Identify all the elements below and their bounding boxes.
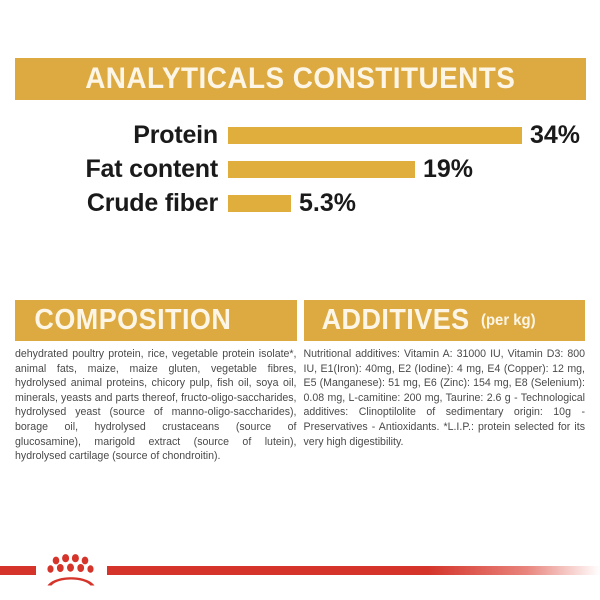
bar-value-fat-content: 19% [423, 157, 473, 182]
bar-row-fat-content: Fat content 19% [0, 152, 600, 186]
bar-label-crude-fiber: Crude fiber [0, 191, 218, 216]
bar-fill-protein [228, 127, 522, 144]
additives-body-text: Nutritional additives: Vitamin A: 31000 … [304, 341, 586, 449]
bar-row-crude-fiber: Crude fiber 5.3% [0, 186, 600, 220]
bar-row-protein: Protein 34% [0, 118, 600, 152]
bar-track-fat-content: 19% [228, 157, 473, 182]
additives-header-subtitle: (per kg) [481, 312, 536, 330]
analyticals-header-title: ANALYTICALS CONSTITUENTS [85, 64, 515, 94]
bar-fill-crude-fiber [228, 195, 291, 212]
additives-header-band: ADDITIVES (per kg) [304, 300, 586, 341]
footer-brand-rule [0, 546, 600, 592]
bar-value-crude-fiber: 5.3% [299, 191, 356, 216]
footer-rule-left [0, 566, 36, 575]
bar-label-protein: Protein [0, 123, 218, 148]
composition-panel: COMPOSITION dehydrated poultry protein, … [15, 300, 297, 464]
composition-header-title: COMPOSITION [34, 306, 231, 335]
info-panels: COMPOSITION dehydrated poultry protein, … [0, 300, 600, 464]
analyticals-header-band: ANALYTICALS CONSTITUENTS [15, 58, 586, 100]
royal-canin-crown-icon [40, 550, 102, 590]
analyticals-bar-chart: Protein 34% Fat content 19% Crude fiber … [0, 118, 600, 220]
product-label-panel: ANALYTICALS CONSTITUENTS Protein 34% Fat… [0, 0, 600, 600]
composition-header-band: COMPOSITION [15, 300, 297, 341]
bar-label-fat-content: Fat content [0, 157, 218, 182]
composition-body-text: dehydrated poultry protein, rice, vegeta… [15, 341, 297, 464]
bar-track-crude-fiber: 5.3% [228, 191, 356, 216]
bar-track-protein: 34% [228, 123, 580, 148]
additives-header-title: ADDITIVES [321, 306, 469, 335]
bar-fill-fat-content [228, 161, 415, 178]
footer-rule-right [107, 566, 600, 575]
bar-value-protein: 34% [530, 123, 580, 148]
additives-panel: ADDITIVES (per kg) Nutritional additives… [304, 300, 586, 464]
